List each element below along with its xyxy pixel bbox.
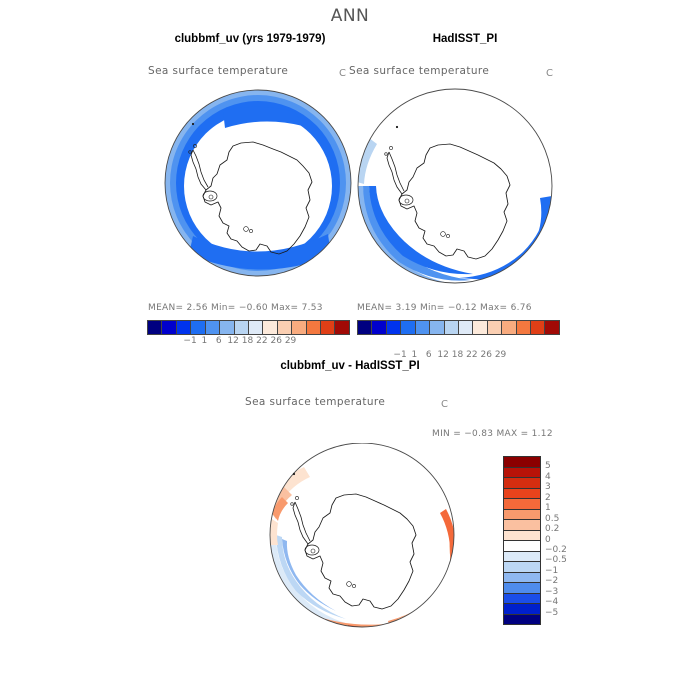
colorbar-segment bbox=[262, 321, 276, 334]
stats-obs: MEAN= 3.19 Min= −0.12 Max= 6.76 bbox=[357, 303, 532, 313]
colorbar-segment bbox=[358, 321, 371, 334]
colorbar-segment bbox=[306, 321, 320, 334]
colorbar-segment bbox=[504, 583, 540, 594]
colorbar-tick-label: 6 bbox=[426, 350, 432, 360]
colorbar-segment bbox=[472, 321, 486, 334]
colorbar-segment bbox=[415, 321, 429, 334]
colorbar-tick-label: 1 bbox=[545, 503, 551, 513]
colorbar-tick-label: −0.5 bbox=[545, 555, 567, 565]
colorbar-difference bbox=[503, 456, 541, 625]
colorbar-segment bbox=[248, 321, 262, 334]
colorbar-tick-label: −3 bbox=[545, 587, 558, 597]
colorbar-tick-label: 29 bbox=[285, 336, 296, 346]
colorbar-tick-label: 6 bbox=[216, 336, 222, 346]
colorbar-segment bbox=[504, 552, 540, 563]
colorbar-segment bbox=[386, 321, 400, 334]
colorbar-segment bbox=[504, 457, 540, 468]
colorbar-segment bbox=[148, 321, 161, 334]
colorbar-segment bbox=[544, 321, 558, 334]
colorbar-tick-label: 22 bbox=[466, 350, 477, 360]
colorbar-tick-label: 0.5 bbox=[545, 514, 559, 524]
colorbar-segment bbox=[219, 321, 233, 334]
unit-label-obs: C bbox=[546, 68, 553, 79]
colorbar-segment bbox=[504, 541, 540, 552]
variable-label-model: Sea surface temperature bbox=[148, 65, 288, 77]
colorbar-tick-label: 22 bbox=[256, 336, 267, 346]
colorbar-segment bbox=[371, 321, 385, 334]
colorbar-tick-label: −2 bbox=[545, 576, 558, 586]
colorbar-tick-label: 12 bbox=[227, 336, 238, 346]
colorbar-tick-label: −4 bbox=[545, 597, 558, 607]
colorbar-segment bbox=[487, 321, 501, 334]
colorbar-tick-label: 1 bbox=[202, 336, 208, 346]
colorbar-tick-label: 0.2 bbox=[545, 524, 559, 534]
colorbar-tick-label: −1 bbox=[183, 336, 196, 346]
colorbar-model-ticks: −1161218222629 bbox=[147, 336, 348, 350]
variable-label-difference: Sea surface temperature bbox=[245, 396, 385, 408]
colorbar-tick-label: 26 bbox=[480, 350, 491, 360]
panel-title-difference: clubbmf_uv - HadISST_PI bbox=[200, 360, 500, 372]
colorbar-segment bbox=[176, 321, 190, 334]
map-obs bbox=[355, 86, 555, 291]
colorbar-segment bbox=[190, 321, 204, 334]
colorbar-tick-label: 18 bbox=[242, 336, 253, 346]
colorbar-segment bbox=[504, 489, 540, 500]
colorbar-segment bbox=[504, 604, 540, 615]
colorbar-segment bbox=[291, 321, 305, 334]
colorbar-segment bbox=[234, 321, 248, 334]
colorbar-segment bbox=[429, 321, 443, 334]
unit-label-model: C bbox=[339, 68, 346, 79]
colorbar-tick-label: −0.2 bbox=[545, 545, 567, 555]
colorbar-model bbox=[147, 320, 350, 335]
colorbar-segment bbox=[504, 562, 540, 573]
variable-label-obs: Sea surface temperature bbox=[349, 65, 489, 77]
colorbar-segment bbox=[277, 321, 291, 334]
colorbar-segment bbox=[334, 321, 348, 334]
colorbar-segment bbox=[320, 321, 334, 334]
panel-title-obs: HadISST_PI bbox=[315, 33, 615, 45]
page-title: ANN bbox=[0, 6, 700, 26]
colorbar-segment bbox=[504, 468, 540, 479]
colorbar-tick-label: 3 bbox=[545, 482, 551, 492]
colorbar-tick-label: 0 bbox=[545, 535, 551, 545]
map-difference bbox=[248, 443, 476, 633]
map-model bbox=[163, 86, 353, 286]
colorbar-segment bbox=[504, 478, 540, 489]
colorbar-tick-label: −1 bbox=[545, 566, 558, 576]
colorbar-segment bbox=[504, 510, 540, 521]
colorbar-segment bbox=[400, 321, 414, 334]
colorbar-tick-label: −5 bbox=[545, 608, 558, 618]
colorbar-segment bbox=[458, 321, 472, 334]
colorbar-segment bbox=[504, 520, 540, 531]
colorbar-tick-label: 5 bbox=[545, 461, 551, 471]
colorbar-segment bbox=[516, 321, 530, 334]
colorbar-segment bbox=[530, 321, 544, 334]
colorbar-tick-label: 18 bbox=[452, 350, 463, 360]
colorbar-segment bbox=[504, 573, 540, 584]
colorbar-segment bbox=[501, 321, 515, 334]
unit-label-difference: C bbox=[441, 399, 448, 410]
colorbar-segment bbox=[504, 594, 540, 605]
stats-model: MEAN= 2.56 Min= −0.60 Max= 7.53 bbox=[148, 303, 323, 313]
colorbar-tick-label: 4 bbox=[545, 472, 551, 482]
colorbar-segment bbox=[504, 531, 540, 542]
colorbar-segment bbox=[161, 321, 175, 334]
colorbar-tick-label: 1 bbox=[412, 350, 418, 360]
colorbar-segment bbox=[205, 321, 219, 334]
colorbar-tick-label: 26 bbox=[270, 336, 281, 346]
colorbar-segment bbox=[504, 499, 540, 510]
colorbar-tick-label: 12 bbox=[437, 350, 448, 360]
colorbar-segment bbox=[504, 615, 540, 625]
colorbar-tick-label: −1 bbox=[393, 350, 406, 360]
stats-difference: MIN = −0.83 MAX = 1.12 bbox=[432, 429, 553, 439]
colorbar-obs bbox=[357, 320, 560, 335]
colorbar-tick-label: 29 bbox=[495, 350, 506, 360]
colorbar-tick-label: 2 bbox=[545, 493, 551, 503]
colorbar-segment bbox=[444, 321, 458, 334]
